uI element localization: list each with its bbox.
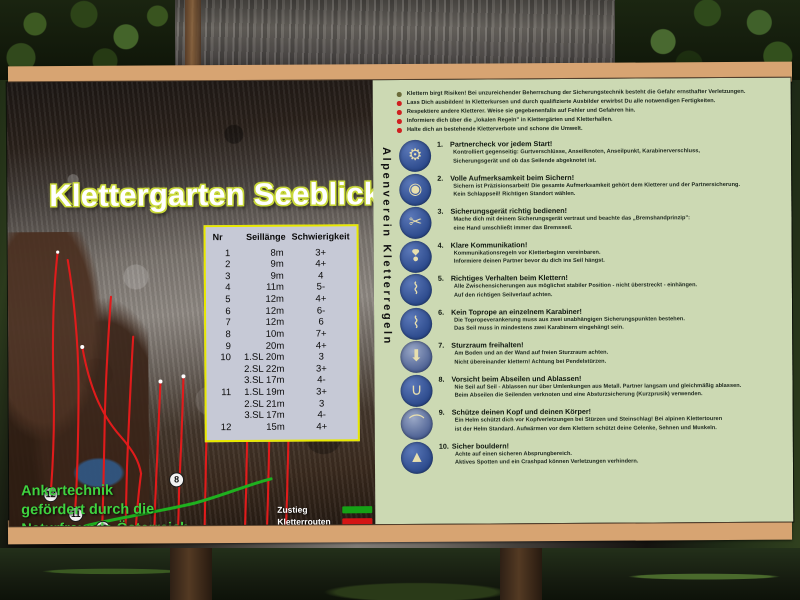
rule-text: 10.Sicher bouldern!Achte auf einen siche…: [439, 438, 785, 467]
header-length: Seillänge: [234, 232, 291, 248]
map-legend: Zustieg Kletterrouten: [277, 504, 372, 526]
warning-list: Klettern birgt Risiken! Bei unzureichend…: [373, 82, 787, 140]
header-nr: Nr: [213, 232, 235, 248]
rule-item: ⚙1.Partnercheck vor jedem Start!Kontroll…: [399, 137, 783, 172]
harness-check-icon-glyph: ⚙: [399, 140, 431, 172]
quickdraw-clip-icon: ⌇: [400, 274, 432, 306]
cell-grade: 4+: [293, 422, 351, 434]
route-table: Nr Seillänge Schwierigkeit 18m3+29m4+39m…: [204, 224, 360, 442]
topo-photo: Klettergarten Seeblick: [7, 80, 376, 526]
eye-attention-icon: ◉: [399, 173, 431, 205]
vertical-heading: Alpenverein Kletterregeln: [373, 139, 401, 474]
cell-grade: 4-: [293, 410, 351, 422]
cell-length: 1.SL 19m: [235, 387, 292, 399]
legend-routes-swatch: [342, 518, 372, 525]
rule-detail-line: Kein Schlappseil! Richtigen Standort wäh…: [437, 189, 783, 199]
table-row: 111.SL 19m3+: [214, 387, 351, 399]
route-table-body: 18m3+29m4+39m4411m5-512m4+612m6-712m6810…: [213, 247, 351, 434]
cell-nr: [214, 399, 236, 411]
cell-length: 9m: [234, 271, 291, 283]
cell-grade: 4+: [292, 259, 350, 271]
warning-item: Halte dich an bestehende Kletterverbote …: [397, 124, 781, 135]
cell-nr: [213, 364, 235, 376]
belay-device-icon-glyph: ✂: [399, 207, 431, 239]
rules-body: Alpenverein Kletterregeln ⚙1.Partnerchec…: [373, 137, 789, 475]
legend-approach-label: Zustieg: [277, 504, 337, 514]
board-panel: Klettergarten Seeblick: [7, 78, 794, 527]
cell-length: 2.SL 22m: [235, 364, 292, 376]
credit-line-2: gefördert durch die: [21, 500, 189, 520]
support-post-left: [170, 548, 212, 600]
rule-detail-line: eine Hand umschließt immer das Bremsseil…: [438, 222, 784, 232]
rule-item: ∪8.Vorsicht beim Abseilen und Ablassen!N…: [400, 371, 784, 406]
cell-length: 3.SL 17m: [235, 376, 292, 388]
toprope-anchor-icon-glyph: ⌇: [400, 307, 432, 339]
rule-number: 7.: [438, 341, 451, 350]
rule-detail-line: Informiere deinen Partner bevor du dich …: [438, 256, 784, 266]
table-row: 810m7+: [213, 329, 350, 341]
vertical-heading-text: Alpenverein Kletterregeln: [380, 147, 393, 346]
rappel-rope-icon-glyph: ∪: [400, 374, 432, 406]
rule-number: 4.: [438, 240, 451, 249]
cell-nr: 11: [214, 388, 236, 400]
cell-length: 10m: [235, 329, 292, 341]
cell-nr: 7: [213, 318, 235, 330]
rule-text: 8.Vorsicht beim Abseilen und Ablassen!Ni…: [438, 371, 784, 400]
rule-item: ✂3.Sicherungsgerät richtig bedienen!Mach…: [399, 204, 783, 239]
rappel-rope-icon: ∪: [400, 374, 432, 406]
cell-length: 3.SL 17m: [235, 410, 292, 422]
rule-text: 7.Sturzraum freihalten!Am Boden und an d…: [438, 338, 784, 367]
cell-length: 8m: [234, 248, 291, 260]
speech-bubbles-icon: ❢: [400, 240, 432, 272]
cell-length: 12m: [235, 317, 292, 329]
climbing-rules-panel: Klettern birgt Risiken! Bei unzureichend…: [373, 78, 794, 525]
helmet-icon: ⌒: [401, 408, 433, 440]
cell-nr: 8: [213, 329, 235, 341]
legend-approach-swatch: [342, 506, 372, 513]
rule-item: ⌒9.Schütze deinen Kopf und deinen Körper…: [401, 405, 785, 440]
information-board: Klettergarten Seeblick: [8, 64, 792, 542]
cell-nr: 9: [213, 341, 235, 353]
rule-detail-line: Aktives Spotten und ein Crashpad können …: [439, 457, 785, 467]
cell-length: 11m: [234, 283, 291, 295]
rules-list: ⚙1.Partnercheck vor jedem Start!Kontroll…: [399, 137, 789, 474]
rule-number: 2.: [437, 173, 450, 182]
cell-length: 1.SL 20m: [235, 352, 292, 364]
rule-detail-line: Nicht übereinander klettern! Achtung bei…: [438, 356, 784, 366]
harness-check-icon: ⚙: [399, 140, 431, 172]
rule-detail-line: Auf den richtigen Seilverlauf achten.: [438, 289, 784, 299]
sponsor-credit: Ankertechnik gefördert durch die Naturfr…: [21, 481, 189, 526]
rule-detail-line: Das Seil muss in mindestens zwei Karabin…: [438, 323, 784, 333]
rule-number: 6.: [438, 307, 451, 316]
quickdraw-clip-icon-glyph: ⌇: [400, 274, 432, 306]
cell-grade: 4: [292, 271, 350, 283]
cell-nr: 10: [213, 353, 235, 365]
rule-item: ❢4.Klare Kommunikation!Kommunikationsreg…: [400, 237, 784, 272]
eye-attention-icon-glyph: ◉: [399, 173, 431, 205]
cell-grade: 3: [292, 352, 350, 364]
cell-grade: 4+: [292, 340, 350, 352]
rule-number: 1.: [437, 140, 450, 149]
cell-nr: 4: [213, 283, 235, 295]
cell-grade: 4+: [292, 294, 350, 306]
rule-text: 6.Kein Toprope an einzelnem Karabiner!Di…: [438, 304, 784, 333]
page-title: Klettergarten Seeblick: [49, 176, 375, 214]
belay-device-icon: ✂: [399, 207, 431, 239]
cell-nr: 12: [214, 422, 236, 434]
table-row: 512m4+: [213, 294, 350, 306]
rule-text: 5.Richtiges Verhalten beim Klettern!Alle…: [438, 271, 784, 300]
rule-number: 8.: [438, 374, 451, 383]
cell-grade: 7+: [292, 329, 350, 341]
fall-zone-icon: ⬇: [400, 341, 432, 373]
cell-grade: 3+: [292, 387, 350, 399]
rule-detail-line: Sicherungsgerät und ob das Seilende abge…: [437, 155, 783, 165]
screenshot-root: Klettergarten Seeblick: [0, 0, 800, 600]
table-row: 712m6: [213, 317, 350, 329]
cell-nr: 1: [213, 248, 235, 260]
cell-grade: 6-: [292, 305, 350, 317]
table-header-row: Nr Seillänge Schwierigkeit: [213, 231, 350, 248]
cell-length: 9m: [234, 259, 291, 271]
rule-number: 10.: [439, 441, 452, 450]
rule-text: 2.Volle Aufmerksamkeit beim Sichern!Sich…: [437, 170, 783, 199]
rule-item: ⌇6.Kein Toprope an einzelnem Karabiner!D…: [400, 304, 784, 339]
rule-number: 5.: [438, 274, 451, 283]
table-row: 3.SL 17m4-: [214, 410, 351, 422]
legend-approach: Zustieg: [277, 504, 372, 515]
rule-text: 1.Partnercheck vor jedem Start!Kontrolli…: [437, 137, 783, 166]
cell-length: 15m: [235, 422, 292, 434]
table-row: 101.SL 20m3: [213, 352, 350, 364]
helmet-icon-glyph: ⌒: [401, 408, 433, 440]
cell-grade: 3+: [292, 364, 350, 376]
header-grade: Schwierigkeit: [292, 231, 350, 247]
rule-detail-line: ist der Helm Standard. Aufwärmen vor dem…: [439, 423, 785, 433]
rule-text: 4.Klare Kommunikation!Kommunikationsrege…: [438, 237, 784, 266]
cell-grade: 4-: [292, 375, 350, 387]
rule-item: ⌇5.Richtiges Verhalten beim Klettern!All…: [400, 271, 784, 306]
table-row: 29m4+: [213, 259, 350, 271]
toprope-anchor-icon: ⌇: [400, 307, 432, 339]
rule-number: 9.: [439, 408, 452, 417]
cell-grade: 3+: [292, 247, 350, 259]
cell-nr: 3: [213, 271, 235, 283]
speech-bubbles-icon-glyph: ❢: [400, 240, 432, 272]
bouldering-spot-icon: ▲: [401, 441, 433, 473]
ground-vegetation: [0, 548, 800, 600]
rule-item: ◉2.Volle Aufmerksamkeit beim Sichern!Sic…: [399, 170, 783, 205]
rule-detail-line: Beim Abseilen die Seilenden verknoten un…: [439, 390, 785, 400]
cell-nr: 6: [213, 306, 235, 318]
credit-line-3: Naturfreunde Österreich: [21, 519, 189, 526]
cell-length: 12m: [235, 306, 292, 318]
cell-nr: 5: [213, 295, 235, 307]
rule-text: 9.Schütze deinen Kopf und deinen Körper!…: [439, 405, 785, 434]
rule-text: 3.Sicherungsgerät richtig bedienen!Mache…: [437, 204, 783, 233]
cell-length: 2.SL 21m: [235, 399, 292, 411]
cell-grade: 5-: [292, 282, 350, 294]
rule-number: 3.: [437, 207, 450, 216]
cell-length: 12m: [235, 294, 292, 306]
fall-zone-icon-glyph: ⬇: [400, 341, 432, 373]
rule-item: ▲10.Sicher bouldern!Achte auf einen sich…: [401, 438, 785, 473]
table-row: 1215m4+: [214, 422, 351, 434]
cell-nr: [213, 376, 235, 388]
rule-item: ⬇7.Sturzraum freihalten!Am Boden und an …: [400, 338, 784, 373]
cell-length: 20m: [235, 341, 292, 353]
support-post-right: [500, 548, 542, 600]
cell-grade: 3: [293, 398, 351, 410]
cell-nr: [214, 411, 236, 423]
credit-line-1: Ankertechnik: [21, 481, 189, 501]
cell-nr: 2: [213, 260, 235, 272]
cell-grade: 6: [292, 317, 350, 329]
bouldering-spot-icon-glyph: ▲: [401, 441, 433, 473]
